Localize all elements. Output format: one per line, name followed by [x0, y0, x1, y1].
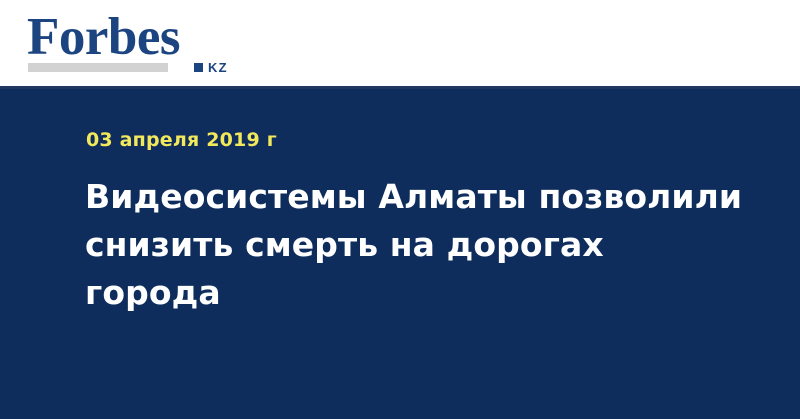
article-hero-page: Forbes KZ 03 апреля 2019 г Видеосистемы …	[0, 0, 800, 419]
forbes-wordmark: Forbes	[27, 11, 227, 64]
article-publish-date: 03 апреля 2019 г	[86, 129, 277, 151]
article-hero-banner: 03 апреля 2019 г Видеосистемы Алматы поз…	[0, 89, 800, 419]
logo-locale-label: KZ	[208, 61, 228, 74]
article-headline: Видеосистемы Алматы позволили снизить см…	[85, 173, 745, 317]
site-header: Forbes KZ	[0, 0, 800, 86]
blue-square-icon	[194, 63, 203, 72]
logo-underbar	[28, 63, 168, 72]
forbes-kz-logo[interactable]: Forbes KZ	[27, 11, 227, 75]
